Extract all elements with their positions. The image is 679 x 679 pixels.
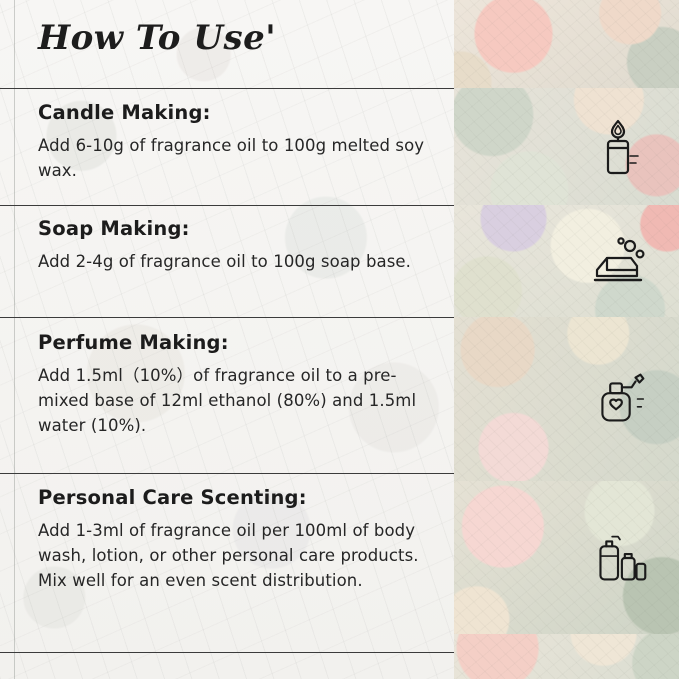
strip-photo-bottom [454, 634, 679, 679]
section-heading: Soap Making: [38, 217, 438, 240]
strip-photo-candle [454, 88, 679, 205]
section-body: Add 1-3ml of fragrance oil per 100ml of … [38, 518, 438, 593]
divider-3 [0, 317, 454, 318]
floral-line-overlay [454, 0, 679, 88]
how-to-use-infographic: How To Use' Candle Making: Add 6-10g of … [0, 0, 679, 679]
section-body: Add 1.5ml（10%）of fragrance oil to a pre-… [38, 363, 438, 438]
section-heading: Perfume Making: [38, 331, 438, 354]
section-body: Add 6-10g of fragrance oil to 100g melte… [38, 133, 438, 183]
section-soap-making: Soap Making: Add 2-4g of fragrance oil t… [38, 217, 438, 274]
strip-photo-soap [454, 205, 679, 317]
candle-icon [581, 110, 655, 184]
divider-4 [0, 473, 454, 474]
page-title: How To Use' [38, 18, 438, 58]
perfume-bottle-icon [581, 362, 655, 436]
page-title-block: How To Use' [38, 18, 438, 58]
strip-photo-top [454, 0, 679, 88]
divider-5 [0, 652, 454, 653]
strip-photo-personal-care [454, 481, 679, 634]
soap-bar-icon [581, 224, 655, 298]
section-heading: Candle Making: [38, 101, 438, 124]
section-personal-care-scenting: Personal Care Scenting: Add 1-3ml of fra… [38, 486, 438, 593]
section-body: Add 2-4g of fragrance oil to 100g soap b… [38, 249, 438, 274]
divider-1 [0, 88, 454, 89]
content-column: How To Use' Candle Making: Add 6-10g of … [0, 0, 454, 679]
floral-photo-strip [454, 0, 679, 679]
divider-2 [0, 205, 454, 206]
strip-photo-perfume [454, 317, 679, 481]
lotion-bottles-icon [581, 521, 655, 595]
floral-line-overlay [454, 634, 679, 679]
section-heading: Personal Care Scenting: [38, 486, 438, 509]
section-perfume-making: Perfume Making: Add 1.5ml（10%）of fragran… [38, 331, 438, 438]
section-candle-making: Candle Making: Add 6-10g of fragrance oi… [38, 101, 438, 183]
